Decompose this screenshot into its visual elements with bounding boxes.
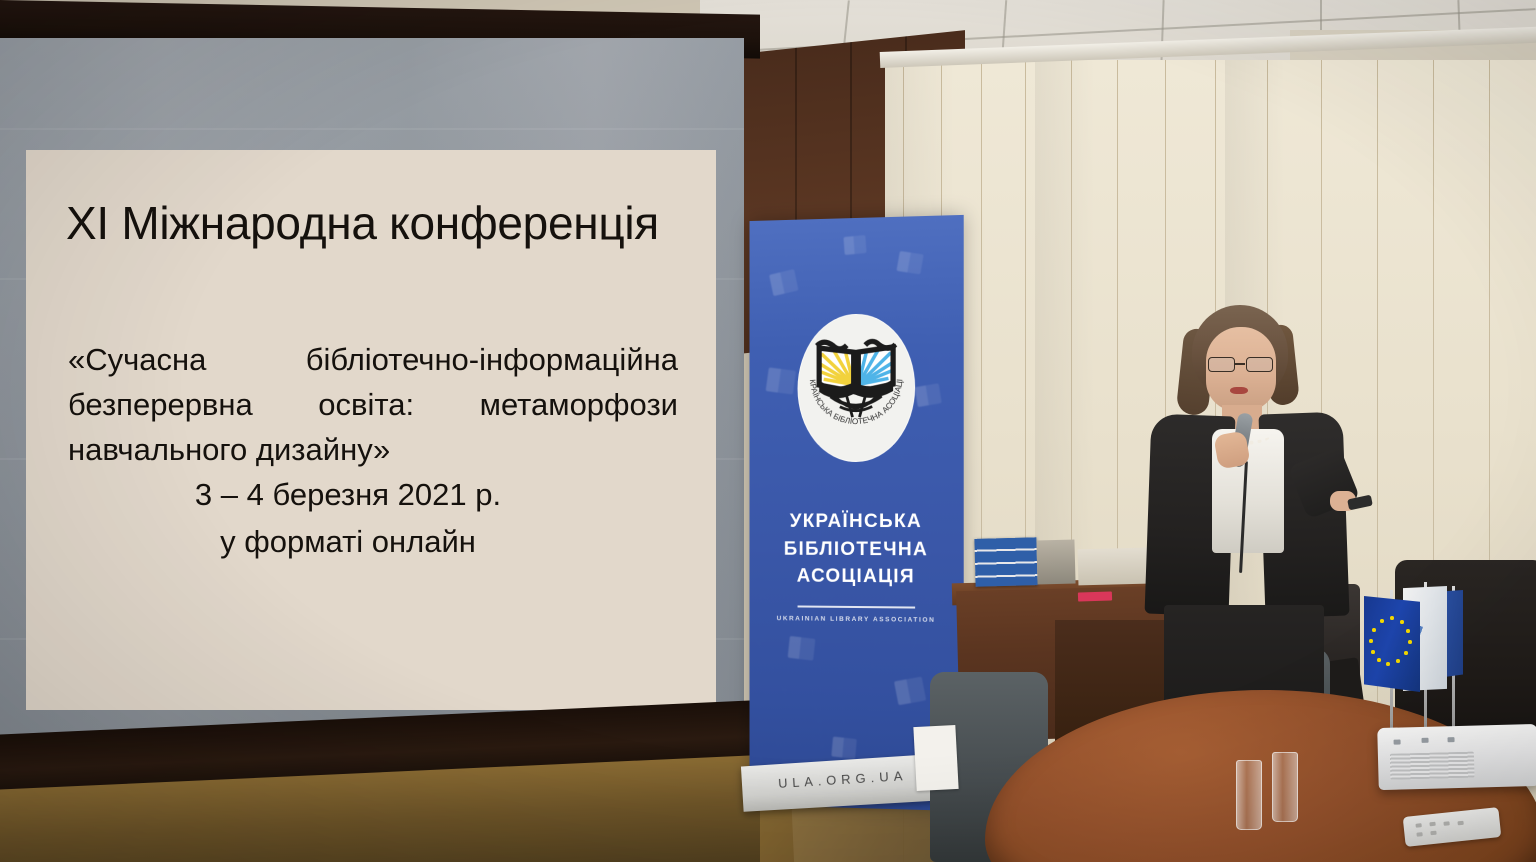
subtitle-word-4: освіта: (318, 383, 414, 428)
european-union-flag (1364, 596, 1420, 692)
drinking-glass (1236, 760, 1262, 830)
mouth (1230, 387, 1248, 394)
eyeglasses-icon (1208, 357, 1276, 373)
banner-title: УКРАЇНСЬКА БІБЛІОТЕЧНА АСОЦІАЦІЯ (750, 508, 964, 592)
drinking-glass (1272, 752, 1298, 822)
blue-book-stack (974, 537, 1037, 587)
svg-text:УКРАЇНСЬКА БІБЛІОТЕЧНА АСОЦІАЦ: УКРАЇНСЬКА БІБЛІОТЕЧНА АСОЦІАЦІЯ (798, 314, 904, 427)
slide-subtitle: «Сучасна бібліотечно-інформаційна безпер… (68, 338, 678, 473)
white-card (913, 725, 958, 791)
presenter (1130, 305, 1390, 725)
banner-divider (797, 605, 915, 608)
red-marker (1078, 591, 1112, 601)
subtitle-word-1: «Сучасна (68, 338, 206, 383)
subtitle-line-3: навчального дизайну» (68, 428, 678, 473)
banner-subtitle: UKRAINIAN LIBRARY ASSOCIATION (750, 615, 964, 624)
slide-date: 3 – 4 березня 2021 р. (68, 472, 628, 519)
ula-banner-emblem: УКРАЇНСЬКА БІБЛІОТЕЧНА АСОЦІАЦІЯ (797, 313, 915, 462)
slide-format: у форматі онлайн (68, 519, 628, 566)
subtitle-word-2: бібліотечно-інформаційна (306, 338, 678, 383)
banner-title-line-2: БІБЛІОТЕЧНА (750, 535, 964, 563)
conference-photo: XI Міжнародна конференція «Сучасна біблі… (0, 0, 1536, 862)
projector (1377, 724, 1536, 790)
banner-title-line-1: УКРАЇНСЬКА (750, 508, 964, 536)
subtitle-word-5: метаморфози (480, 383, 678, 428)
title-slide: XI Міжнародна конференція «Сучасна біблі… (26, 150, 716, 710)
slide-title: XI Міжнародна конференція (66, 196, 686, 250)
grey-box (1036, 540, 1075, 585)
subtitle-word-3: безперервна (68, 383, 253, 428)
banner-title-line-3: АСОЦІАЦІЯ (750, 563, 964, 592)
projector-vent (1390, 752, 1475, 780)
ula-ring-text: УКРАЇНСЬКА БІБЛІОТЕЧНА АСОЦІАЦІЯ (798, 314, 914, 432)
slide-date-block: 3 – 4 березня 2021 р. у форматі онлайн (68, 472, 628, 565)
